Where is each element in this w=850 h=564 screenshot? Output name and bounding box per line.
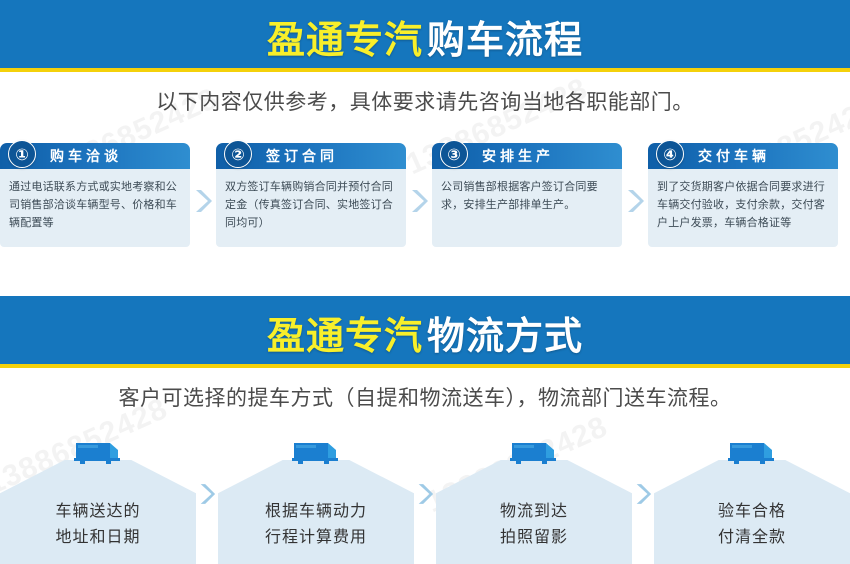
truck-icon — [290, 440, 342, 466]
logistics-chevron-icon-1 — [196, 440, 218, 564]
step-title: 签订合同 — [266, 146, 338, 166]
logistics-card-text: 车辆送达的 地址和日期 — [0, 498, 196, 550]
step-card-4[interactable]: ④ 交付车辆 到了交货期客户依据合同要求进行车辆交付验收，支付余款，交付客户上户… — [648, 143, 838, 247]
logistics-card-line2: 拍照留影 — [436, 524, 632, 550]
truck-icon — [726, 440, 778, 466]
logistics-card-text: 根据车辆动力 行程计算费用 — [218, 498, 414, 550]
step-header-2: ② 签订合同 — [216, 143, 406, 169]
step-body: 双方签订车辆购销合同并预付合同定金（传真签订合同、实地签订合同均可） — [216, 169, 406, 247]
logistics-card-text: 物流到达 拍照留影 — [436, 498, 632, 550]
logistics-card-line2: 地址和日期 — [0, 524, 196, 550]
logistics-card-line2: 行程计算费用 — [218, 524, 414, 550]
step-chevron-icon-2 — [406, 143, 432, 258]
logistics-chevron-icon-3 — [632, 440, 654, 564]
step-header-1: ① 购车洽谈 — [0, 143, 190, 169]
logistics-card-line1: 根据车辆动力 — [218, 498, 414, 524]
purchase-steps-row: ① 购车洽谈 通过电话联系方式或实地考察和公司销售部洽谈车辆型号、价格和车辆配置… — [0, 143, 850, 258]
step-number-badge: ③ — [440, 140, 468, 168]
step-number-badge: ① — [8, 140, 36, 168]
step-title: 安排生产 — [482, 146, 554, 166]
brand-name: 盈通专汽 — [267, 9, 423, 64]
logistics-card-line1: 车辆送达的 — [0, 498, 196, 524]
step-number-badge: ② — [224, 140, 252, 168]
step-header-4: ④ 交付车辆 — [648, 143, 838, 169]
banner-subject: 物流方式 — [427, 305, 583, 360]
step-header-3: ③ 安排生产 — [432, 143, 622, 169]
logistics-card-4[interactable]: 验车合格 付清全款 — [654, 440, 850, 564]
step-card-2[interactable]: ② 签订合同 双方签订车辆购销合同并预付合同定金（传真签订合同、实地签订合同均可… — [216, 143, 406, 247]
logistics-card-line2: 付清全款 — [654, 524, 850, 550]
step-card-3[interactable]: ③ 安排生产 公司销售部根据客户签订合同要求，安排生产部排单生产。 — [432, 143, 622, 247]
step-card-1[interactable]: ① 购车洽谈 通过电话联系方式或实地考察和公司销售部洽谈车辆型号、价格和车辆配置… — [0, 143, 190, 247]
logistics-banner: 盈通专汽 物流方式 — [0, 296, 850, 368]
step-title: 交付车辆 — [698, 146, 770, 166]
step-chevron-icon-3 — [622, 143, 648, 258]
step-body: 到了交货期客户依据合同要求进行车辆交付验收，支付余款，交付客户上户发票，车辆合格… — [648, 169, 838, 247]
logistics-card-text: 验车合格 付清全款 — [654, 498, 850, 550]
banner-subject: 购车流程 — [427, 9, 583, 64]
brand-name: 盈通专汽 — [267, 305, 423, 360]
logistics-cards-row: 车辆送达的 地址和日期 根据车辆动力 行程计算费用 — [0, 430, 850, 564]
logistics-subtitle: 客户可选择的提车方式（自提和物流送车），物流部门送车流程。 — [0, 382, 850, 412]
logistics-card-1[interactable]: 车辆送达的 地址和日期 — [0, 440, 196, 564]
logistics-card-line1: 物流到达 — [436, 498, 632, 524]
truck-icon — [72, 440, 124, 466]
truck-icon — [508, 440, 560, 466]
step-body: 公司销售部根据客户签订合同要求，安排生产部排单生产。 — [432, 169, 622, 247]
logistics-chevron-icon-2 — [414, 440, 436, 564]
logistics-card-3[interactable]: 物流到达 拍照留影 — [436, 440, 632, 564]
purchase-banner: 盈通专汽 购车流程 — [0, 0, 850, 72]
logistics-card-line1: 验车合格 — [654, 498, 850, 524]
purchase-subtitle: 以下内容仅供参考，具体要求请先咨询当地各职能部门。 — [0, 86, 850, 116]
step-chevron-icon-1 — [190, 143, 216, 258]
logistics-card-2[interactable]: 根据车辆动力 行程计算费用 — [218, 440, 414, 564]
purchase-banner-title: 盈通专汽 购车流程 — [267, 9, 583, 64]
step-body: 通过电话联系方式或实地考察和公司销售部洽谈车辆型号、价格和车辆配置等 — [0, 169, 190, 247]
step-title: 购车洽谈 — [50, 146, 122, 166]
step-number-badge: ④ — [656, 140, 684, 168]
logistics-banner-title: 盈通专汽 物流方式 — [267, 305, 583, 360]
